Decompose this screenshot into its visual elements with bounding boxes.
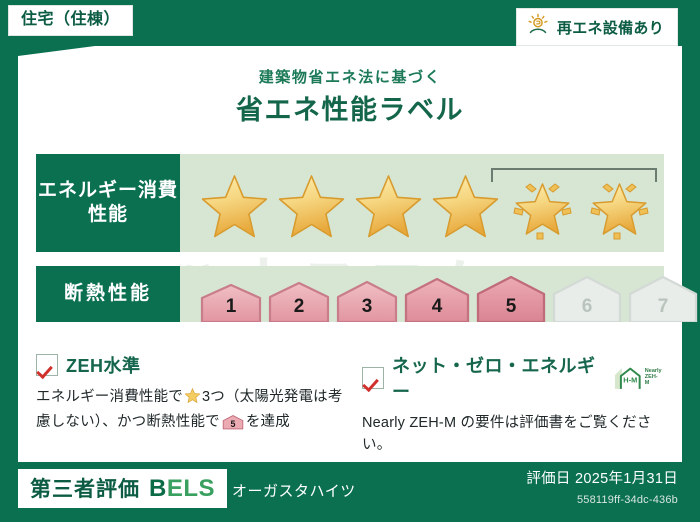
zeh-text-part3: を達成 bbox=[246, 414, 290, 430]
grade-number: 5 bbox=[474, 296, 548, 318]
net-zero-heading: ネット・ゼロ・エネルギー H-M Nearly ZEH-M bbox=[362, 352, 662, 404]
renewable-energy-badge: 再エネ設備あり bbox=[516, 8, 678, 46]
check-icon bbox=[362, 367, 384, 389]
renewable-badge-label: 再エネ設備あり bbox=[557, 17, 664, 38]
svg-text:H-M: H-M bbox=[623, 375, 637, 384]
net-zero-title: ネット・ゼロ・エネルギー bbox=[392, 352, 601, 404]
grade-badge-5: 5 bbox=[474, 272, 548, 322]
zeh-m-caption-line2: ZEH-M bbox=[645, 374, 658, 386]
label-subtitle: 建築物省エネ法に基づく bbox=[0, 66, 700, 87]
insulation-performance-row: 断熱性能 1 2 bbox=[36, 266, 664, 322]
building-type-chip: 住宅（住棟） bbox=[8, 5, 133, 36]
energy-performance-row: エネルギー消費性能 太陽光発電(自家消費)分 bbox=[36, 154, 664, 252]
grade-badge-7: 7 bbox=[626, 272, 700, 322]
check-icon bbox=[36, 354, 58, 376]
star-icon bbox=[198, 170, 271, 242]
third-party-eval-label: 第三者評価 bbox=[30, 473, 140, 503]
grade-number: 3 bbox=[334, 296, 400, 318]
energy-stars-panel: 太陽光発電(自家消費)分 bbox=[180, 154, 664, 252]
zeh-title: ZEH水準 bbox=[66, 352, 141, 378]
zeh-description: エネルギー消費性能で3つ（太陽光発電は考慮しない）、かつ断熱性能で5を達成 bbox=[36, 386, 356, 438]
svg-text:5: 5 bbox=[230, 420, 235, 430]
star-rating bbox=[198, 170, 656, 242]
grade-badge-3: 3 bbox=[334, 277, 400, 322]
evaluation-id: 558119ff-34dc-436b bbox=[577, 494, 678, 506]
energy-performance-label: 住宅（住棟） 再エネ設備あり 建築物省エネ法に基づく 省エネ性能ラベル ハウスコ… bbox=[0, 0, 700, 522]
zeh-text-part1: エネルギー消費性能で bbox=[36, 389, 183, 405]
zeh-m-logo-caption: Nearly ZEH-M bbox=[645, 369, 662, 386]
net-zero-info-block: ネット・ゼロ・エネルギー H-M Nearly ZEH-M Nearly ZEH… bbox=[362, 352, 662, 457]
grade-number: 7 bbox=[626, 296, 700, 318]
grade-badge-2: 2 bbox=[266, 278, 332, 322]
bels-logo-els: ELS bbox=[167, 475, 215, 502]
net-zero-description: Nearly ZEH-M の要件は評価書をご覧ください。 bbox=[362, 412, 662, 457]
bels-logo: BELS bbox=[149, 475, 215, 503]
bels-logo-b: B bbox=[149, 475, 167, 502]
building-name: オーガスタハイツ bbox=[232, 480, 356, 501]
star-solar-icon bbox=[506, 170, 579, 242]
grade-badge-6: 6 bbox=[550, 272, 624, 322]
grade-number: 2 bbox=[266, 296, 332, 318]
label-title: 省エネ性能ラベル bbox=[0, 88, 700, 127]
zeh-m-logo-icon: H-M Nearly ZEH-M bbox=[613, 366, 662, 390]
solar-sun-icon bbox=[526, 13, 550, 42]
grade-number: 4 bbox=[402, 296, 472, 318]
star-icon bbox=[429, 170, 502, 242]
star-icon bbox=[275, 170, 348, 242]
zeh-info-block: ZEH水準 エネルギー消費性能で3つ（太陽光発電は考慮しない）、かつ断熱性能で5… bbox=[36, 352, 356, 438]
insulation-performance-label-text: 断熱性能 bbox=[36, 266, 180, 322]
insulation-grades-panel: 1 2 3 bbox=[180, 266, 664, 322]
grade-scale: 1 2 3 bbox=[198, 272, 700, 322]
evaluation-date: 評価日 2025年1月31日 bbox=[526, 467, 678, 488]
energy-performance-label-text: エネルギー消費性能 bbox=[36, 154, 180, 252]
house-grade-5-icon: 5 bbox=[222, 418, 244, 434]
grade-badge-4: 4 bbox=[402, 274, 472, 322]
zeh-heading: ZEH水準 bbox=[36, 352, 356, 378]
grade-number: 6 bbox=[550, 296, 624, 318]
bels-chip: 第三者評価 BELS bbox=[18, 469, 227, 508]
star-icon bbox=[184, 392, 201, 408]
grade-badge-1: 1 bbox=[198, 280, 264, 322]
grade-number: 1 bbox=[198, 296, 264, 318]
star-solar-icon bbox=[583, 170, 656, 242]
star-icon bbox=[352, 170, 425, 242]
